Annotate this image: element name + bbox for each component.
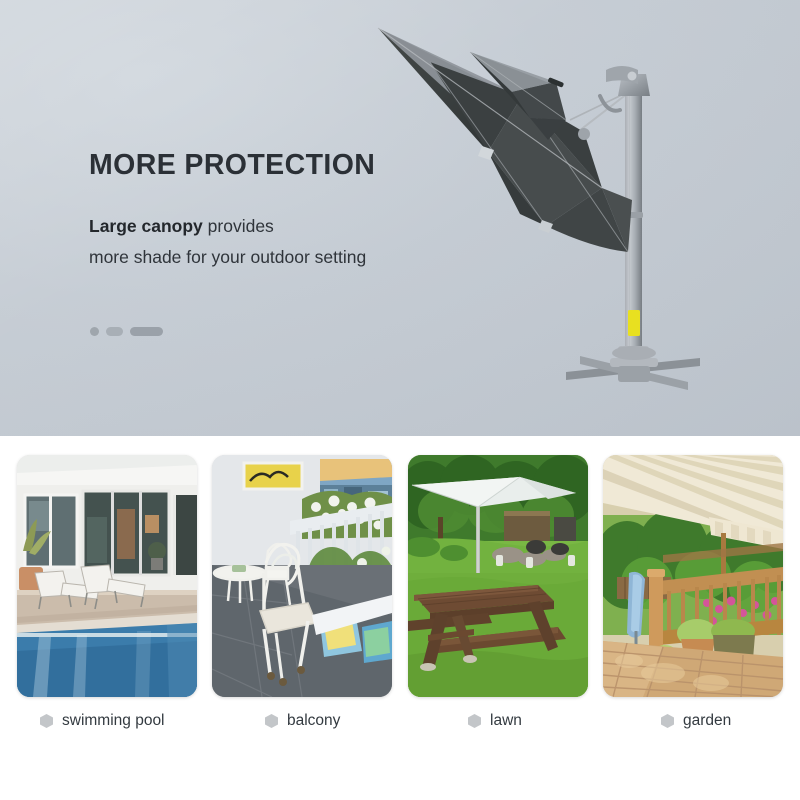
caption-label: lawn	[490, 712, 522, 730]
gallery-thumbnail-balcony[interactable]	[212, 455, 392, 697]
umbrella-product-image	[370, 0, 700, 400]
hero-subtitle-rest: provides	[203, 216, 274, 236]
canopy-hub	[578, 128, 590, 140]
hero-subtitle-line2: more shade for your outdoor setting	[89, 242, 375, 273]
page-title: MORE PROTECTION	[89, 150, 375, 181]
pager-short-pill	[106, 327, 123, 336]
gallery-thumbnail-swimming-pool[interactable]	[17, 455, 197, 697]
caption-label: swimming pool	[62, 712, 165, 730]
pager-dot	[90, 327, 99, 336]
scene-gallery	[0, 455, 800, 700]
umbrella-canopy-lower	[378, 28, 632, 252]
hexagon-bullet-icon	[265, 714, 278, 728]
hexagon-bullet-icon	[661, 714, 674, 728]
umbrella-cross-base	[566, 346, 700, 390]
decorative-pager-marks	[90, 327, 163, 336]
product-feature-banner: MORE PROTECTION Large canopy provides mo…	[0, 0, 800, 800]
pager-long-pill	[130, 327, 163, 336]
hero-panel: MORE PROTECTION Large canopy provides mo…	[0, 0, 800, 436]
gallery-caption-balcony: balcony	[265, 712, 340, 730]
hero-subtitle-emphasis: Large canopy	[89, 216, 203, 236]
pole-warning-label	[628, 310, 640, 336]
caption-label: balcony	[287, 712, 340, 730]
hexagon-bullet-icon	[468, 714, 481, 728]
gallery-caption-lawn: lawn	[468, 712, 522, 730]
gallery-caption-garden: garden	[661, 712, 731, 730]
gallery-caption-swimming-pool: swimming pool	[40, 712, 165, 730]
gallery-thumbnail-lawn[interactable]	[408, 455, 588, 697]
hero-text-block: MORE PROTECTION Large canopy provides mo…	[89, 150, 375, 273]
hero-subtitle-line1: Large canopy provides	[89, 211, 375, 242]
hexagon-bullet-icon	[40, 714, 53, 728]
gallery-thumbnail-garden[interactable]	[603, 455, 783, 697]
caption-label: garden	[683, 712, 731, 730]
